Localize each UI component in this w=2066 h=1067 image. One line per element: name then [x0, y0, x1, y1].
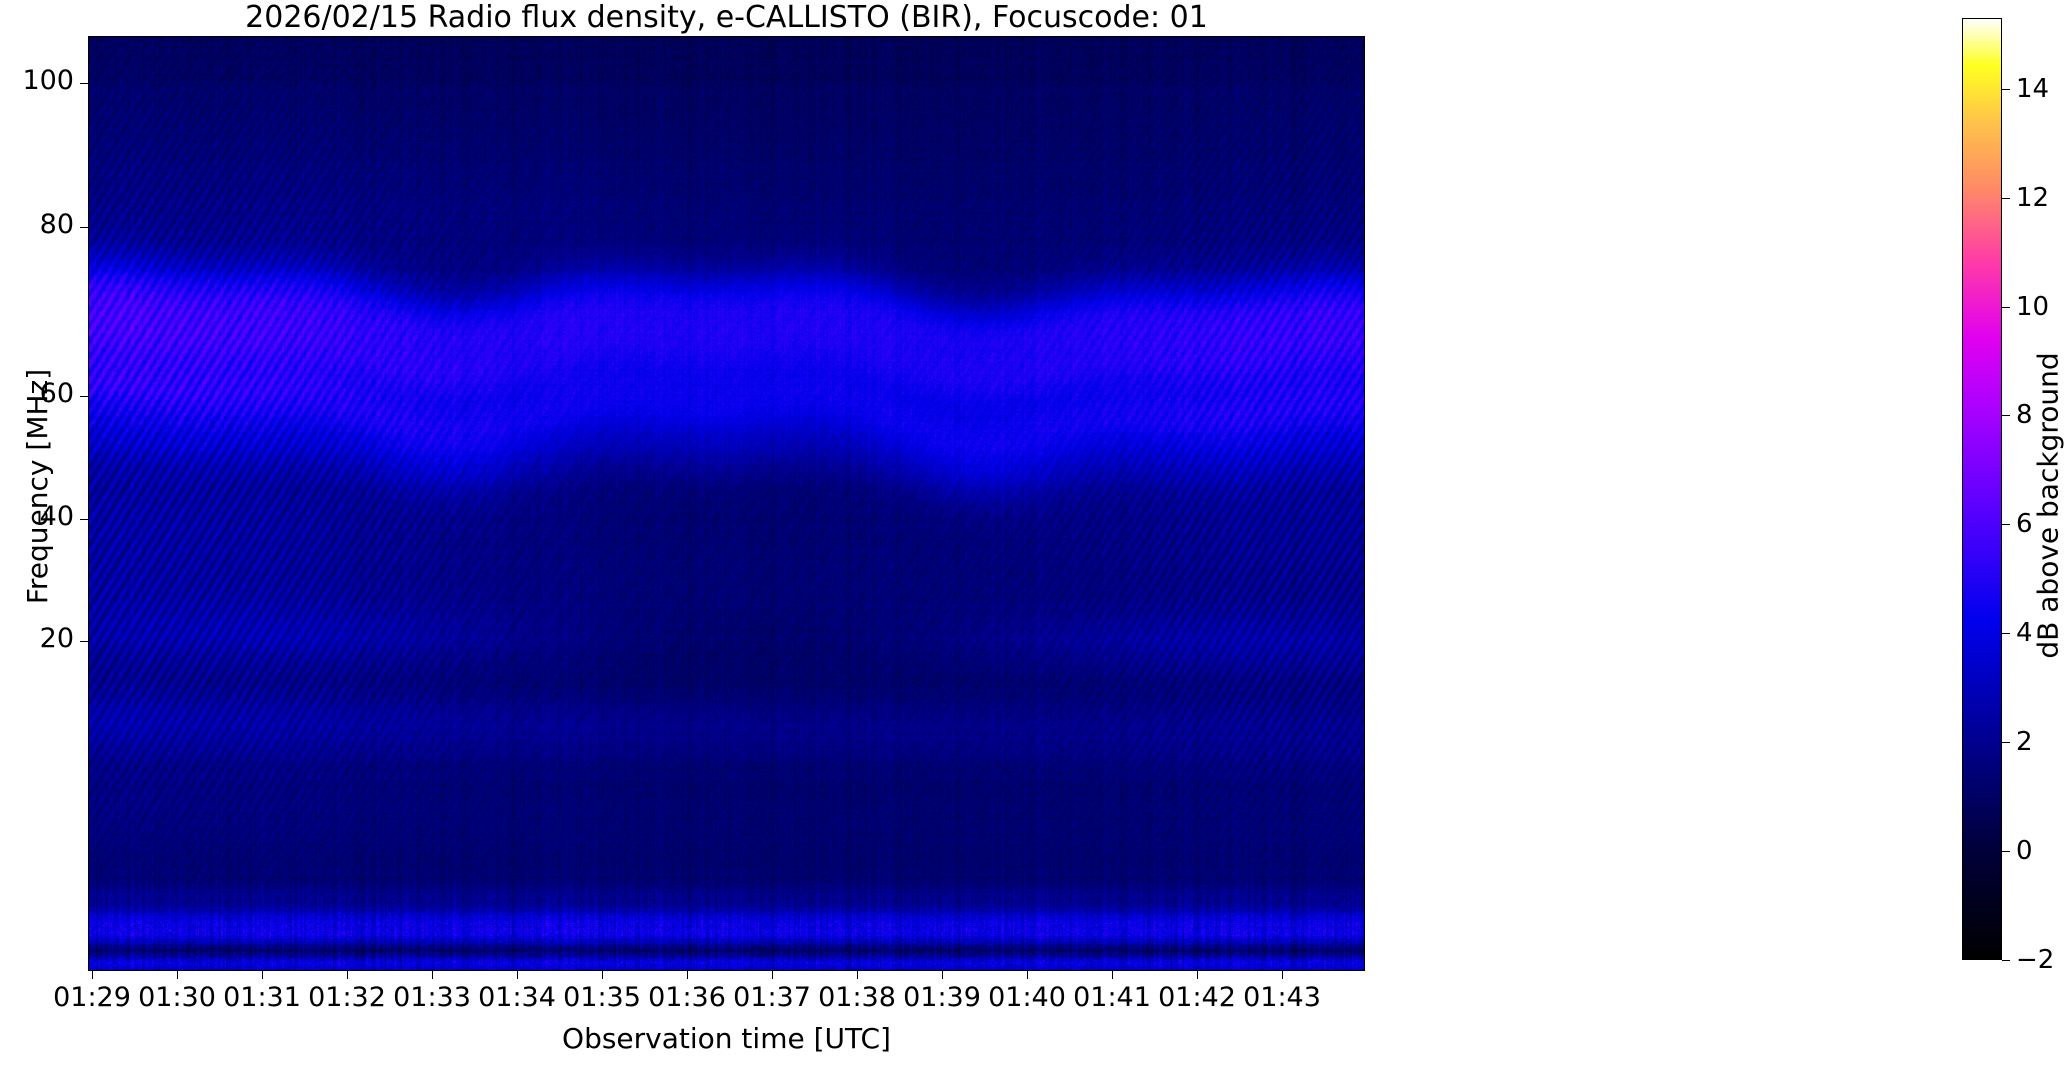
x-tick-mark: [92, 971, 93, 979]
x-tick-mark: [432, 971, 433, 979]
spectrogram-image: [89, 37, 1364, 970]
y-tick-mark: [80, 396, 88, 397]
x-tick-label: 01:34: [478, 982, 556, 1013]
y-tick-label: 20: [40, 623, 74, 654]
y-tick-label: 40: [40, 501, 74, 532]
y-tick-label: 60: [40, 378, 74, 409]
x-tick-mark: [262, 971, 263, 979]
x-tick-label: 01:37: [733, 982, 811, 1013]
x-tick-label: 01:29: [53, 982, 131, 1013]
x-tick-label: 01:32: [308, 982, 386, 1013]
x-tick-label: 01:38: [818, 982, 896, 1013]
colorbar-tick-label: 6: [2016, 509, 2033, 539]
colorbar-label: dB above background: [2032, 226, 2065, 786]
x-tick-mark: [1027, 971, 1028, 979]
page-title: 2026/02/15 Radio flux density, e-CALLIST…: [88, 2, 1365, 34]
y-tick-mark: [80, 83, 88, 84]
x-tick-mark: [1282, 971, 1283, 979]
x-tick-mark: [1197, 971, 1198, 979]
colorbar-tick-label: 12: [2016, 183, 2049, 213]
x-tick-label: 01:40: [988, 982, 1066, 1013]
x-tick-mark: [1112, 971, 1113, 979]
x-tick-mark: [177, 971, 178, 979]
colorbar-tick-label: 2: [2016, 727, 2033, 757]
x-tick-mark: [517, 971, 518, 979]
colorbar: [1962, 18, 2002, 960]
x-tick-label: 01:41: [1073, 982, 1151, 1013]
y-tick-label: 80: [40, 209, 74, 240]
x-tick-label: 01:31: [223, 982, 301, 1013]
colorbar-tick-label: 0: [2016, 836, 2033, 866]
x-tick-mark: [602, 971, 603, 979]
y-tick-mark: [80, 641, 88, 642]
x-tick-mark: [857, 971, 858, 979]
colorbar-tick-mark: [2002, 415, 2010, 416]
x-tick-label: 01:33: [393, 982, 471, 1013]
x-tick-label: 01:43: [1243, 982, 1321, 1013]
x-tick-label: 01:36: [648, 982, 726, 1013]
x-axis-label: Observation time [UTC]: [88, 1022, 1365, 1055]
x-tick-mark: [942, 971, 943, 979]
y-tick-mark: [80, 519, 88, 520]
colorbar-tick-label: 8: [2016, 400, 2033, 430]
colorbar-gradient: [1963, 19, 2001, 959]
y-tick-mark: [80, 227, 88, 228]
colorbar-tick-label: 14: [2016, 74, 2049, 104]
colorbar-tick-label: −2: [2016, 945, 2054, 975]
colorbar-tick-mark: [2002, 851, 2010, 852]
colorbar-tick-mark: [2002, 524, 2010, 525]
x-tick-mark: [347, 971, 348, 979]
x-tick-label: 01:30: [138, 982, 216, 1013]
colorbar-tick-mark: [2002, 198, 2010, 199]
x-tick-label: 01:42: [1158, 982, 1236, 1013]
colorbar-tick-mark: [2002, 960, 2010, 961]
x-tick-mark: [772, 971, 773, 979]
y-tick-label: 100: [22, 65, 74, 96]
spectrogram-axes: [88, 36, 1365, 971]
x-tick-mark: [687, 971, 688, 979]
colorbar-tick-label: 4: [2016, 618, 2033, 648]
colorbar-tick-mark: [2002, 742, 2010, 743]
colorbar-tick-mark: [2002, 307, 2010, 308]
colorbar-tick-mark: [2002, 633, 2010, 634]
x-tick-label: 01:39: [903, 982, 981, 1013]
colorbar-tick-mark: [2002, 89, 2010, 90]
x-tick-label: 01:35: [563, 982, 641, 1013]
y-axis-label: Frequency [MHz]: [21, 19, 54, 954]
spectrogram-figure: 2026/02/15 Radio flux density, e-CALLIST…: [0, 0, 2066, 1067]
